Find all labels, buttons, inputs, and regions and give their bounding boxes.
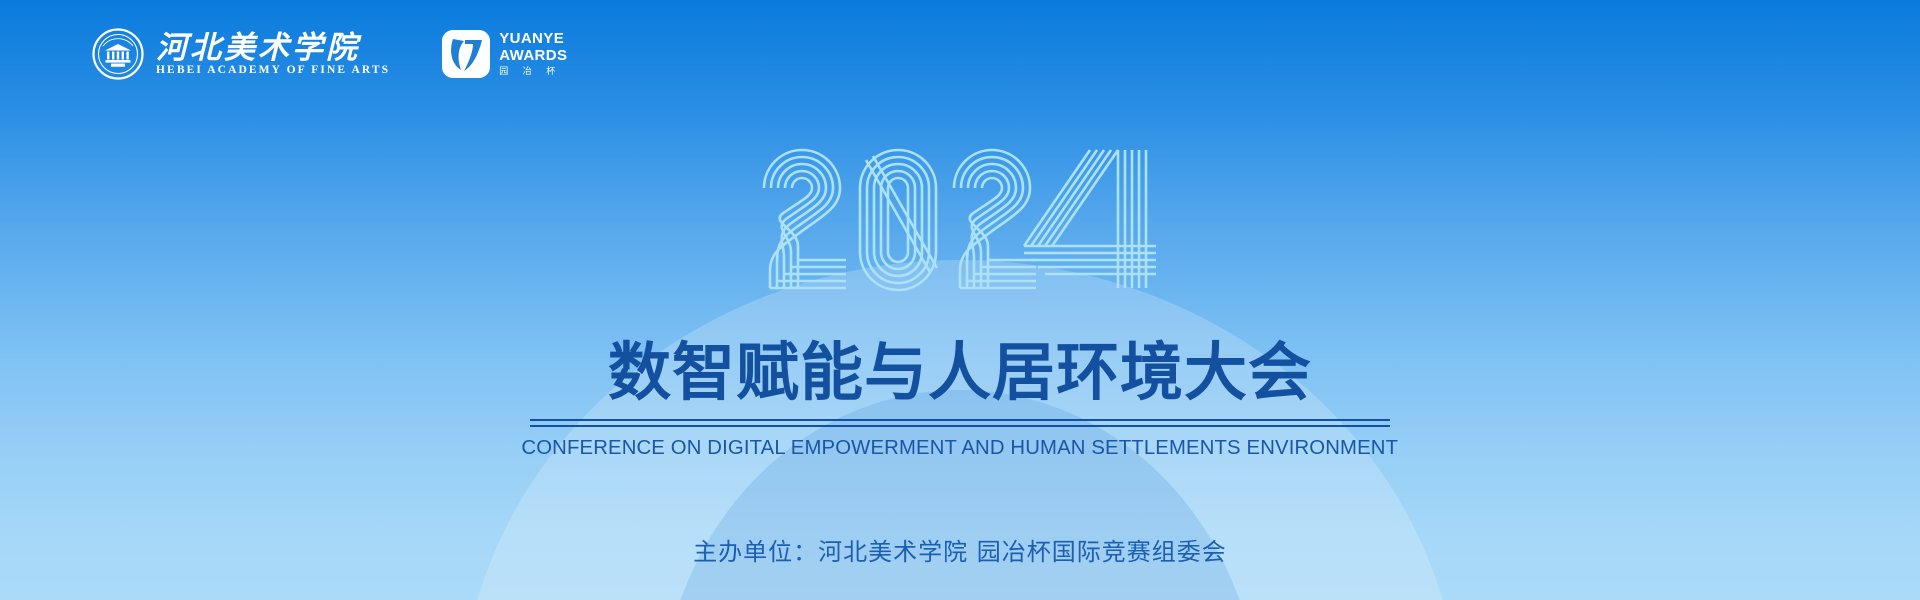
digit-2-first (764, 150, 846, 288)
organizer-text: 主办单位：河北美术学院 园冶杯国际竞赛组委会 (693, 532, 1227, 567)
yuanye-name-cn: 园 冶 杯 (499, 66, 567, 77)
hebei-academy-name-cn: 河北美术学院 (156, 32, 360, 63)
yuanye-line-1: YUANYE (499, 31, 567, 47)
hebei-academy-seal-icon (92, 28, 144, 80)
yuanye-swoosh-icon (442, 30, 490, 78)
hebei-academy-logo[interactable]: 河北美术学院 HEBEI ACADEMY OF FINE ARTS (92, 28, 390, 80)
conference-banner: 河北美术学院 HEBEI ACADEMY OF FINE ARTS YUANYE… (0, 0, 1920, 600)
divider-line-1 (530, 419, 1390, 421)
page-subtitle: CONFERENCE ON DIGITAL EMPOWERMENT AND HU… (522, 437, 1399, 460)
digit-2-second (954, 150, 1036, 288)
yuanye-awards-logo[interactable]: YUANYE AWARDS 园 冶 杯 (442, 30, 567, 78)
digit-4 (1024, 150, 1156, 288)
divider-line-2 (530, 425, 1390, 427)
logo-row: 河北美术学院 HEBEI ACADEMY OF FINE ARTS YUANYE… (92, 28, 567, 80)
year-2024-graphic (760, 142, 1160, 292)
yuanye-line-2: AWARDS (499, 48, 567, 64)
hebei-academy-name-en: HEBEI ACADEMY OF FINE ARTS (156, 65, 390, 77)
page-title: 数智赋能与人居环境大会 (608, 340, 1312, 406)
yuanye-awards-wordmark: YUANYE AWARDS 园 冶 杯 (499, 31, 567, 76)
hebei-academy-wordmark: 河北美术学院 HEBEI ACADEMY OF FINE ARTS (156, 32, 390, 77)
digit-0 (860, 150, 937, 290)
title-divider (530, 419, 1390, 427)
headline-block: 数智赋能与人居环境大会 CONFERENCE ON DIGITAL EMPOWE… (530, 340, 1390, 460)
